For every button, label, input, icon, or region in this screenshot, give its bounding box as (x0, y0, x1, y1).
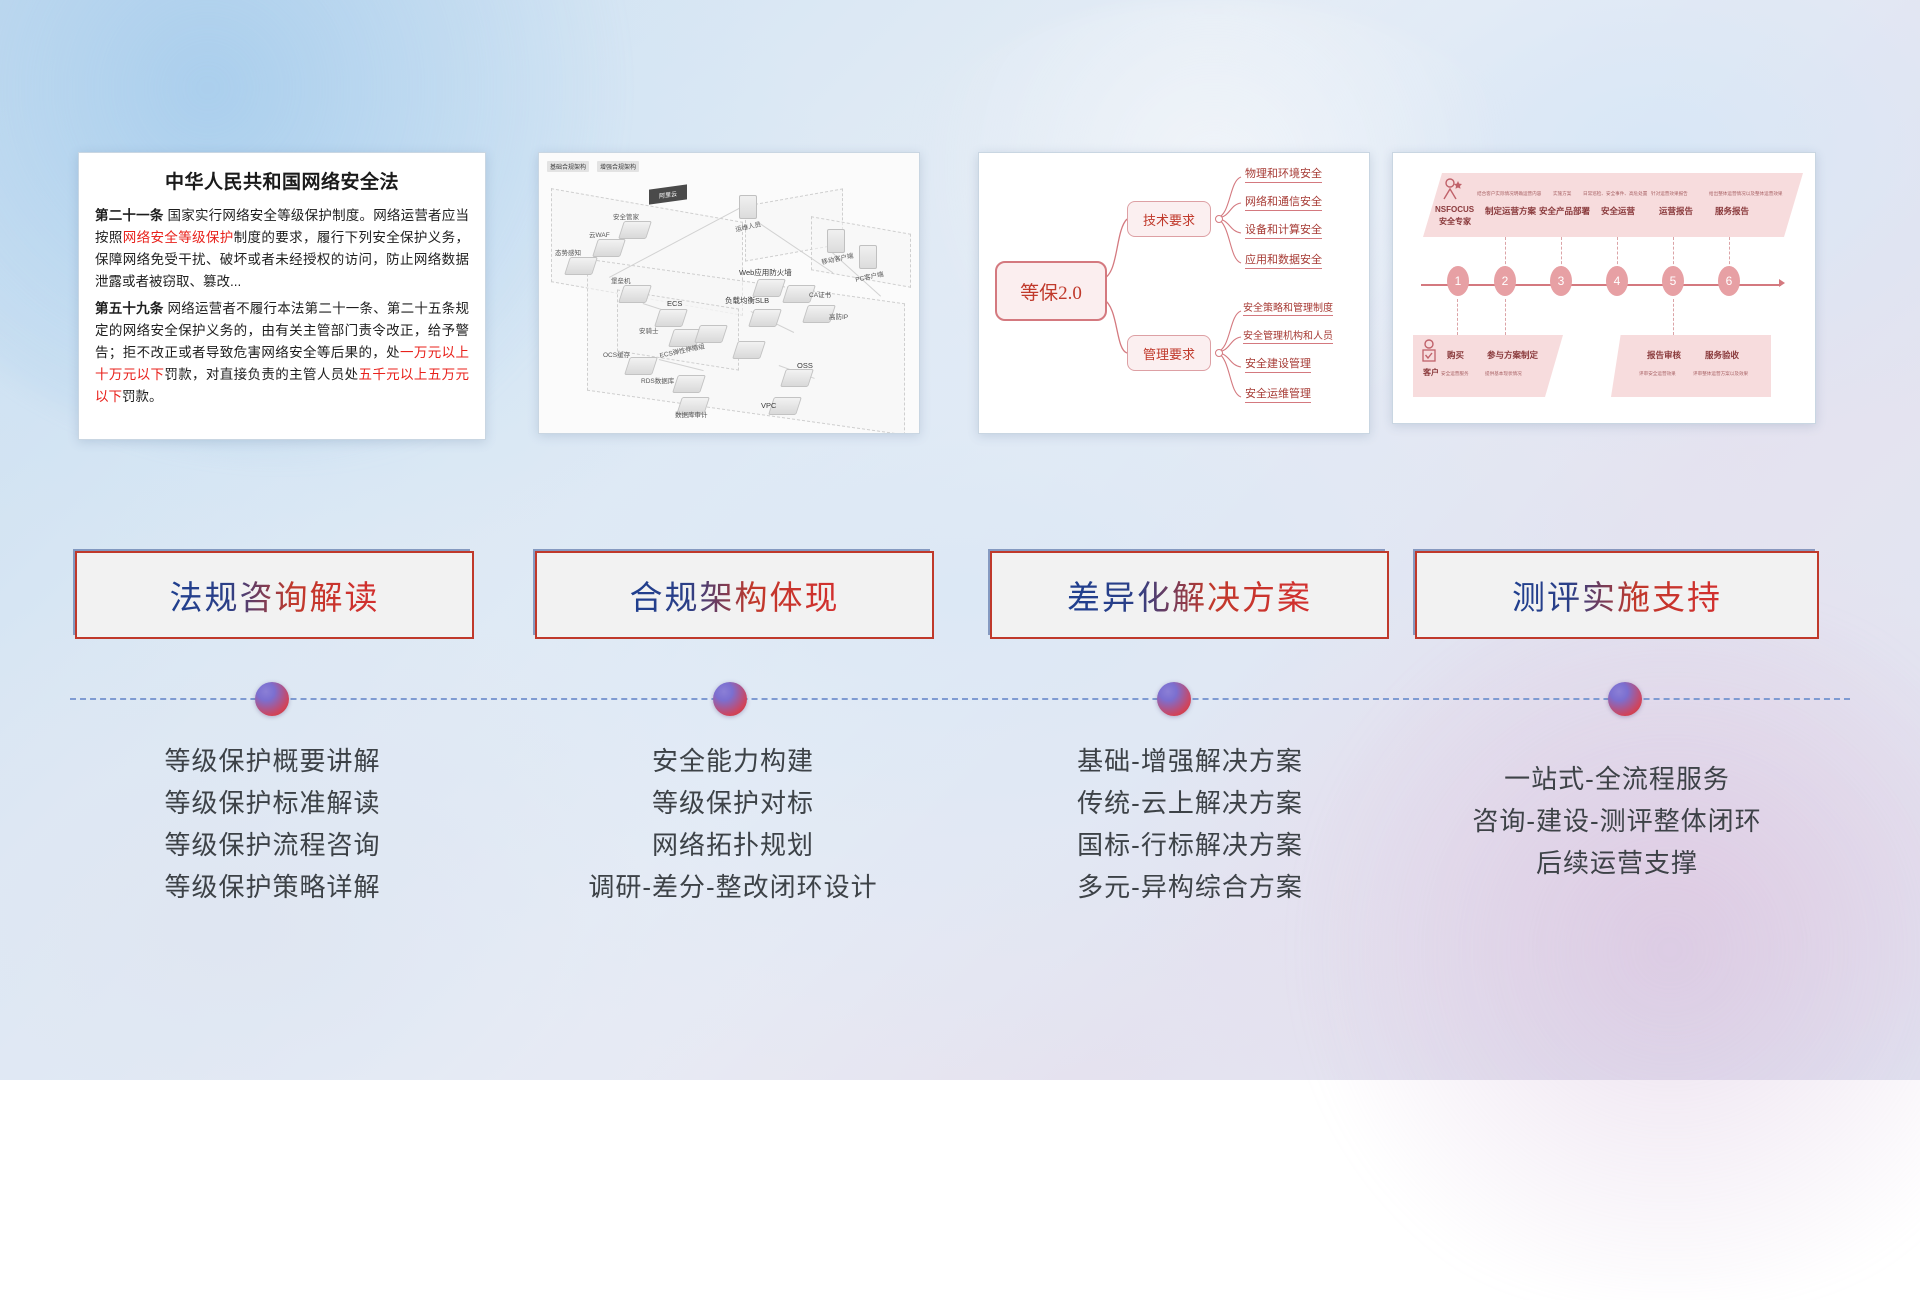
arch-node-rds (672, 375, 706, 393)
mindmap-canvas: 等保2.0 技术要求 物理和环境安全 网络和通信安全 设备和计算安全 应用和数据… (979, 153, 1369, 433)
mindmap-leaf-m-4: 安全运维管理 (1245, 385, 1311, 403)
arch-node-slb (748, 309, 782, 327)
mindmap-leaf-t-4: 应用和数据安全 (1245, 251, 1322, 269)
bullet-column-2: 安全能力构建 等级保护对标 网络拓扑规划 调研-差分-整改闭环设计 (528, 740, 938, 908)
mindmap-leaf-m-2: 安全管理机构和人员 (1243, 327, 1333, 344)
bullet-column-1: 等级保护概要讲解 等级保护标准解读 等级保护流程咨询 等级保护策略详解 (70, 740, 475, 908)
nsfocus-step-6: 6 (1718, 266, 1740, 296)
mindmap-branch-technical: 技术要求 (1127, 201, 1211, 237)
nsfocus-expert-line2: 安全专家 (1439, 216, 1471, 227)
card-nsfocus-timeline: NSFOCUS 安全专家 客户 结合客户实际情况明确运营内容 制定运营方案 实施… (1392, 152, 1816, 424)
mindmap-collapse-dot-technical[interactable] (1215, 215, 1223, 223)
nsfocus-dash-1 (1505, 237, 1507, 269)
arch-label-oss: OSS (797, 361, 813, 370)
nsfocus-top-sub-3: 日常巡检、安全事件、高危处置 (1583, 191, 1647, 197)
mindmap-leaf-t-3: 设备和计算安全 (1245, 221, 1322, 239)
arch-label-rds: RDS数据库 (641, 375, 674, 385)
arch-node-security-butler (618, 221, 652, 239)
arch-label-ocs: OCS缓存 (603, 349, 630, 359)
bullet-item: 后续运营支撑 (1412, 842, 1822, 884)
law-seg-2-4: 罚款。 (122, 389, 163, 404)
bullet-item: 咨询-建设-测评整体闭环 (1412, 800, 1822, 842)
nsfocus-canvas: NSFOCUS 安全专家 客户 结合客户实际情况明确运营内容 制定运营方案 实施… (1393, 153, 1815, 423)
law-seg-2-2: 罚款，对直接负责的主管人员处 (164, 367, 358, 382)
nsfocus-step-3: 3 (1550, 266, 1572, 296)
arch-node-ecs-3 (732, 341, 766, 359)
nsfocus-step-5: 5 (1662, 266, 1684, 296)
mindmap-leaf-m-3: 安全建设管理 (1245, 355, 1311, 373)
section-header-label-3: 差异化解决方案 (1067, 571, 1312, 619)
nsfocus-bottom-title-3: 报告审核 (1647, 349, 1681, 361)
architecture-canvas: 基础合规架构 增强合规架构 阿里云 (539, 153, 919, 433)
customer-person-icon (1419, 339, 1441, 365)
nsfocus-top-sub-2: 实施方案 (1553, 191, 1571, 197)
bullet-item: 等级保护流程咨询 (70, 824, 475, 866)
arch-node-ops-person (739, 195, 757, 219)
nsfocus-dash-7 (1505, 299, 1507, 335)
nsfocus-bottom-sub-1: 安全运营服务 (1441, 371, 1469, 377)
nsfocus-axis-arrow (1779, 279, 1785, 287)
mindmap-branch-management: 管理要求 (1127, 335, 1211, 371)
nsfocus-dash-5 (1729, 237, 1731, 269)
section-header-2[interactable]: 合规架构体现 (535, 551, 934, 639)
arch-node-cloud-waf (592, 239, 626, 257)
arch-label-ca: CA证书 (809, 289, 831, 299)
nsfocus-bottom-title-1: 购买 (1447, 349, 1464, 361)
arch-label-cloud-waf: 云WAF (589, 229, 610, 239)
law-paragraph-2: 第五十九条 网络运营者不履行本法第二十一条、第二十五条规定的网络安全保护义务的，… (95, 298, 469, 407)
nsfocus-top-title-3: 安全运营 (1601, 205, 1635, 217)
nsfocus-bottom-right-band (1611, 335, 1771, 397)
bullet-item: 调研-差分-整改闭环设计 (528, 866, 938, 908)
timeline-dot-1 (255, 682, 289, 716)
nsfocus-step-1: 1 (1447, 266, 1469, 296)
section-header-4[interactable]: 测评实施支持 (1415, 551, 1819, 639)
timeline-dot-3 (1157, 682, 1191, 716)
section-header-3[interactable]: 差异化解决方案 (990, 551, 1389, 639)
arch-label-bastion-host: 堡垒机 (611, 275, 631, 285)
nsfocus-bottom-title-2: 参与方案制定 (1487, 349, 1538, 361)
arch-cloud-tag: 阿里云 (649, 184, 687, 204)
law-paragraph-1: 第二十一条 国家实行网络安全等级保护制度。网络运营者应当按照网络安全等级保护制度… (95, 205, 469, 292)
arch-node-situation-awareness (564, 257, 598, 275)
nsfocus-expert-line1: NSFOCUS (1435, 205, 1474, 214)
law-seg-1-1: 网络安全等级保护 (123, 230, 234, 245)
mindmap-collapse-dot-management[interactable] (1215, 349, 1223, 357)
card-architecture-diagram: 基础合规架构 增强合规架构 阿里云 (538, 152, 920, 434)
arch-label-db-audit: 数据库审计 (675, 409, 708, 419)
arch-tab-basic: 基础合规架构 (547, 161, 589, 172)
nsfocus-top-title-1: 制定运营方案 (1485, 205, 1536, 217)
expert-person-icon (1439, 177, 1465, 203)
law-article-label-2: 第五十九条 (95, 301, 164, 316)
mindmap-leaf-t-1: 物理和环境安全 (1245, 165, 1322, 183)
bullet-item: 网络拓扑规划 (528, 824, 938, 866)
arch-node-oss (780, 369, 814, 387)
arch-label-security-butler: 安全管家 (613, 211, 639, 221)
arch-label-ecs: ECS (667, 299, 682, 308)
arch-label-slb: 负载均衡SLB (725, 295, 769, 306)
timeline-dashed-line (70, 698, 1850, 700)
mindmap-root-node: 等保2.0 (995, 261, 1107, 321)
nsfocus-customer-label: 客户 (1423, 367, 1439, 378)
bullet-item: 等级保护策略详解 (70, 866, 475, 908)
section-header-1[interactable]: 法规咨询解读 (75, 551, 474, 639)
mindmap-leaf-m-1: 安全策略和管理制度 (1243, 299, 1333, 316)
arch-label-situation-awareness: 态势感知 (555, 247, 581, 257)
bullet-item: 等级保护概要讲解 (70, 740, 475, 782)
nsfocus-dash-2 (1561, 237, 1563, 269)
arch-label-vpc: VPC (761, 401, 776, 410)
nsfocus-dash-6 (1457, 299, 1459, 335)
nsfocus-top-title-5: 服务报告 (1715, 205, 1749, 217)
law-title: 中华人民共和国网络安全法 (95, 167, 469, 194)
bullet-item: 等级保护标准解读 (70, 782, 475, 824)
nsfocus-bottom-sub-4: 评审整体运营方案以及效果 (1693, 371, 1748, 377)
bullet-item: 多元-异构综合方案 (985, 866, 1395, 908)
timeline-dot-4 (1608, 682, 1642, 716)
section-header-label-2: 合规架构体现 (630, 571, 840, 619)
arch-node-bastion-host (618, 285, 652, 303)
arch-node-pc-client (859, 245, 877, 269)
section-header-label-1: 法规咨询解读 (170, 571, 380, 619)
arch-tab-enhanced: 增强合规架构 (597, 161, 639, 172)
section-header-label-4: 测评实施支持 (1512, 571, 1722, 619)
nsfocus-step-4: 4 (1606, 266, 1628, 296)
nsfocus-top-sub-4: 针对运营效果报告 (1651, 191, 1688, 197)
bullet-item: 传统-云上解决方案 (985, 782, 1395, 824)
law-article-label-1: 第二十一条 (95, 208, 164, 223)
arch-label-waf: Web应用防火墙 (739, 267, 792, 278)
card-mindmap: 等保2.0 技术要求 物理和环境安全 网络和通信安全 设备和计算安全 应用和数据… (978, 152, 1370, 434)
nsfocus-top-sub-1: 结合客户实际情况明确运营内容 (1477, 191, 1541, 197)
bullet-column-4: 一站式-全流程服务 咨询-建设-测评整体闭环 后续运营支撑 (1412, 758, 1822, 884)
nsfocus-dash-8 (1673, 299, 1675, 335)
bullet-item: 国标-行标解决方案 (985, 824, 1395, 866)
bullet-item: 安全能力构建 (528, 740, 938, 782)
nsfocus-dash-3 (1617, 237, 1619, 269)
nsfocus-bottom-sub-2: 提供基本现状情况 (1485, 371, 1522, 377)
bullet-item: 一站式-全流程服务 (1412, 758, 1822, 800)
card-law-text: 中华人民共和国网络安全法 第二十一条 国家实行网络安全等级保护制度。网络运营者应… (78, 152, 486, 440)
bullet-column-3: 基础-增强解决方案 传统-云上解决方案 国标-行标解决方案 多元-异构综合方案 (985, 740, 1395, 908)
arch-node-mobile-client (827, 229, 845, 253)
nsfocus-dash-4 (1673, 237, 1675, 269)
arch-node-ecs (654, 309, 688, 327)
nsfocus-top-title-2: 安全产品部署 (1539, 205, 1590, 217)
background-glow-bottom-right (1220, 600, 1920, 1300)
bullet-item: 基础-增强解决方案 (985, 740, 1395, 782)
arch-node-ocs (624, 357, 658, 375)
law-body: 中华人民共和国网络安全法 第二十一条 国家实行网络安全等级保护制度。网络运营者应… (79, 153, 485, 439)
timeline-dot-2 (713, 682, 747, 716)
nsfocus-top-sub-5: 给出整体运营情况以及整体运营效果 (1709, 191, 1783, 197)
nsfocus-bottom-title-4: 服务验收 (1705, 349, 1739, 361)
bullet-item: 等级保护对标 (528, 782, 938, 824)
nsfocus-top-title-4: 运营报告 (1659, 205, 1693, 217)
image-cards-row: 中华人民共和国网络安全法 第二十一条 国家实行网络安全等级保护制度。网络运营者应… (0, 152, 1920, 442)
nsfocus-step-2: 2 (1494, 266, 1516, 296)
mindmap-leaf-t-2: 网络和通信安全 (1245, 193, 1322, 211)
arch-label-antiddos: 高防IP (829, 311, 848, 321)
nsfocus-bottom-sub-3: 评审安全运营效果 (1639, 371, 1676, 377)
arch-label-anqishi: 安骑士 (639, 325, 659, 335)
